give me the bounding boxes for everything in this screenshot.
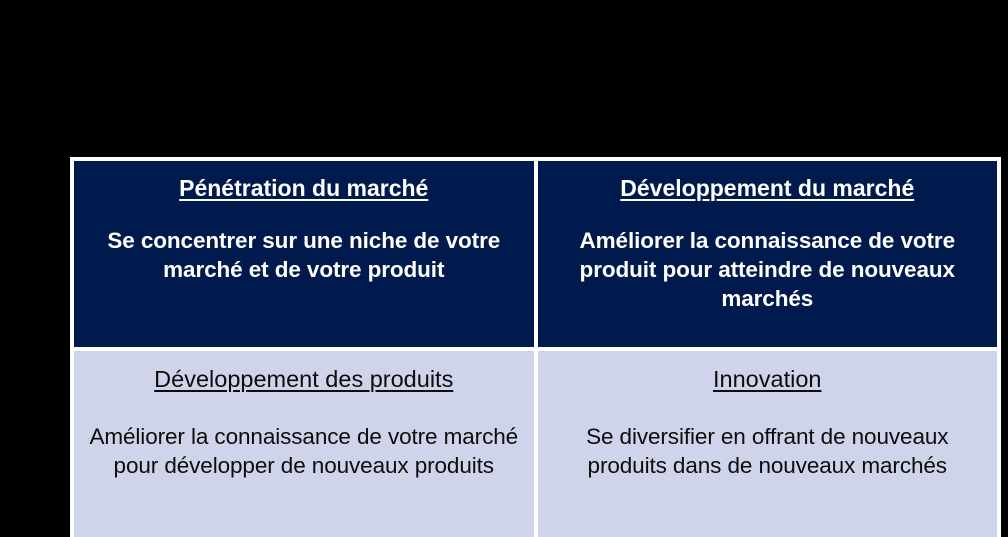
quadrant-market-development[interactable]: Développement du marché Améliorer la con… bbox=[538, 161, 998, 347]
quadrant-innovation[interactable]: Innovation Se diversifier en offrant de … bbox=[538, 351, 998, 537]
quadrant-product-development[interactable]: Développement des produits Améliorer la … bbox=[74, 351, 534, 537]
ansoff-matrix-table: Pénétration du marché Se concentrer sur … bbox=[70, 157, 1001, 537]
quadrant-product-development-body: Améliorer la connaissance de votre march… bbox=[88, 423, 520, 481]
quadrant-market-penetration-body: Se concentrer sur une niche de votre mar… bbox=[88, 227, 520, 285]
quadrant-innovation-title: Innovation bbox=[713, 366, 821, 393]
slide-canvas: Pénétration du marché Se concentrer sur … bbox=[0, 0, 1008, 537]
quadrant-market-development-body: Améliorer la connaissance de votre produ… bbox=[552, 227, 984, 313]
quadrant-product-development-title: Développement des produits bbox=[154, 366, 453, 393]
quadrant-innovation-body: Se diversifier en offrant de nouveaux pr… bbox=[552, 423, 984, 481]
quadrant-market-penetration-title: Pénétration du marché bbox=[179, 175, 428, 201]
quadrant-market-development-title: Développement du marché bbox=[620, 175, 914, 201]
quadrant-market-penetration[interactable]: Pénétration du marché Se concentrer sur … bbox=[74, 161, 534, 347]
